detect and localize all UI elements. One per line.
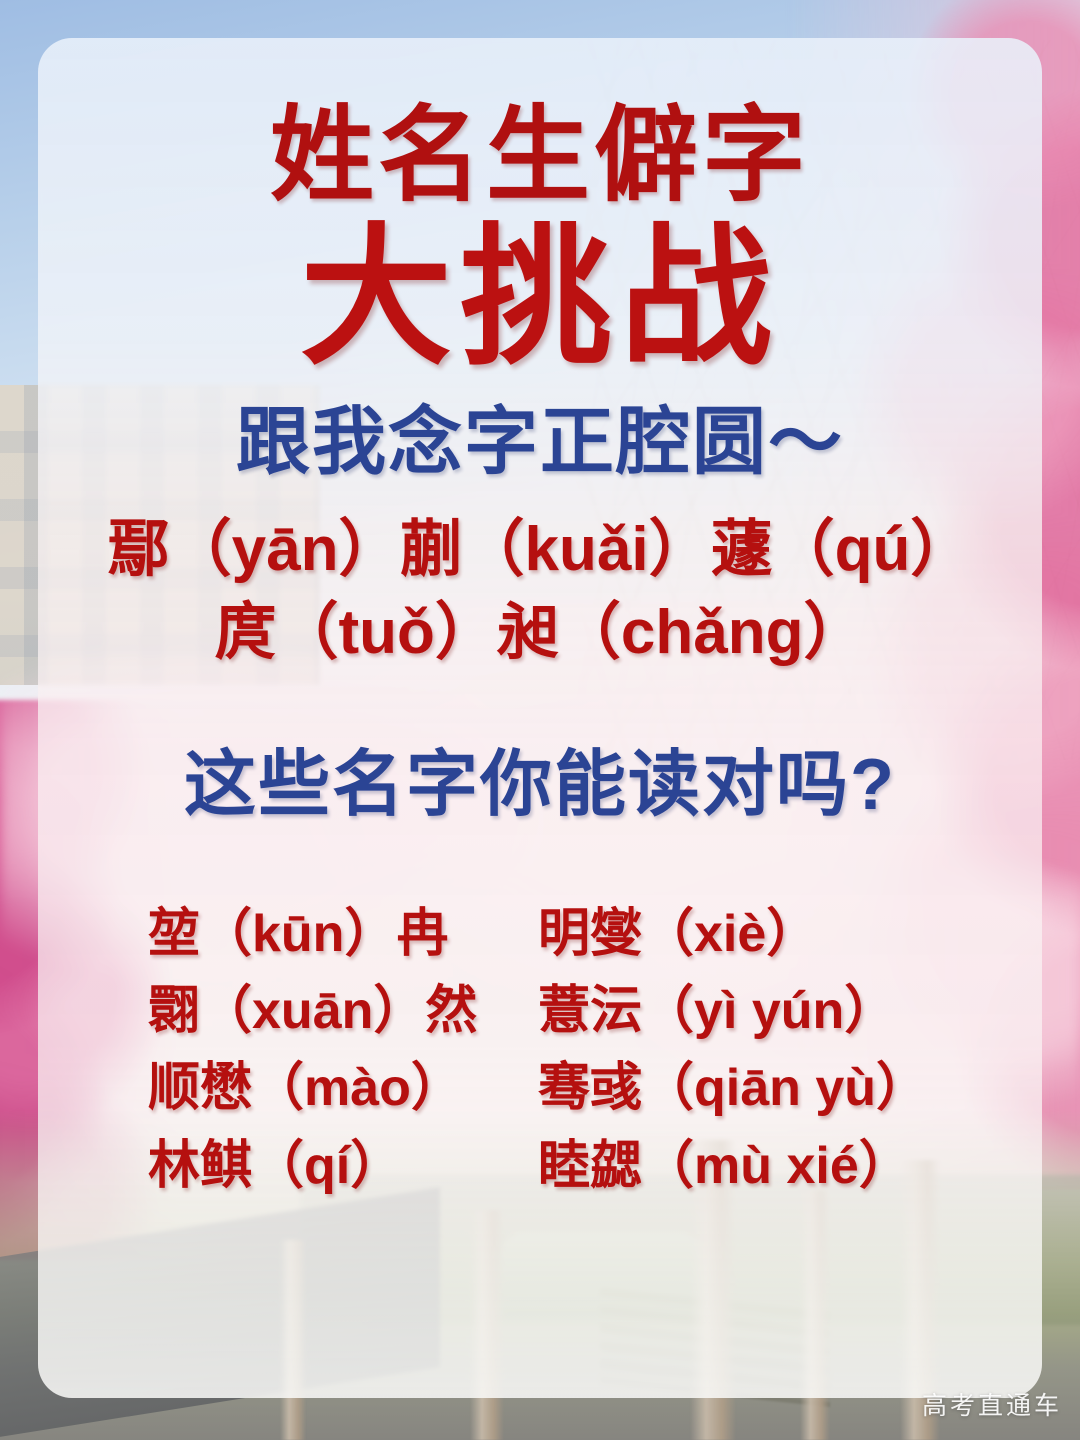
name-list: 堃（kūn）冉 明燮（xiè） 翾（xuān）然 薏沄（yì yún） 顺懋（m… [38, 904, 1042, 1197]
list-item: 睦勰（mù xié） [538, 1136, 1020, 1197]
list-item: 翾（xuān）然 [148, 981, 538, 1042]
pinyin-line-2: 庹（tuǒ）昶（chǎng） [38, 591, 1042, 674]
list-item: 骞彧（qiān yù） [538, 1058, 1020, 1119]
list-item: 薏沄（yì yún） [538, 981, 1020, 1042]
list-item: 堃（kūn）冉 [148, 904, 538, 965]
poster-content: 姓名生僻字 大挑战 跟我念字正腔圆～ 鄢（yān）蒯（kuǎi）蘧（qú） 庹（… [38, 38, 1042, 1398]
watermark-logo: 高考直通车 [922, 1386, 1062, 1422]
list-item: 林鲯（qí） [148, 1136, 538, 1197]
page-title-small: 姓名生僻字 [38, 100, 1042, 212]
list-item: 明燮（xiè） [538, 904, 1020, 965]
page-subtitle: 跟我念字正腔圆～ [38, 401, 1042, 484]
question-heading: 这些名字你能读对吗? [38, 746, 1042, 825]
list-item: 顺懋（mào） [148, 1058, 538, 1119]
page-title-main: 大挑战 [38, 218, 1042, 379]
pinyin-line-1: 鄢（yān）蒯（kuǎi）蘧（qú） [38, 508, 1042, 591]
poster-root: 姓名生僻字 大挑战 跟我念字正腔圆～ 鄢（yān）蒯（kuǎi）蘧（qú） 庹（… [0, 0, 1080, 1440]
